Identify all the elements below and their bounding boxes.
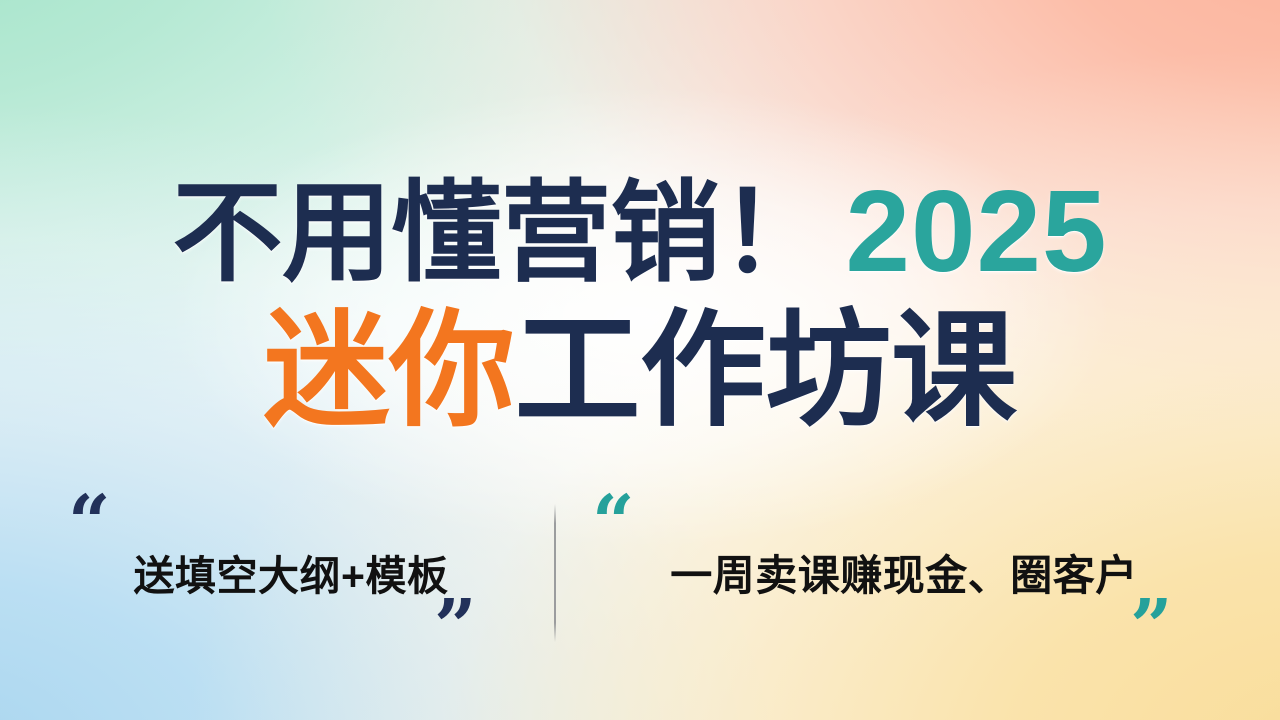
headline-line-1-year: 2025 [829, 166, 1107, 296]
poster-canvas: 不用懂营销！2025 迷你工作坊课 “ 送填空大纲+模板 ” “ 一周卖课赚现金… [0, 0, 1280, 720]
headline-line-2: 迷你工作坊课 [0, 305, 1280, 437]
bullet-item-left: “ 送填空大纲+模板 ” [56, 486, 526, 656]
bullet-row: “ 送填空大纲+模板 ” “ 一周卖课赚现金、圈客户 ” [0, 486, 1280, 676]
headline-line-1-navy-text: 不用懂营销！ [172, 172, 829, 295]
quote-close-icon: ” [434, 590, 477, 664]
headline-line-2-navy-text: 工作坊课 [515, 300, 1017, 441]
headline-line-1: 不用懂营销！2025 [0, 172, 1280, 293]
bullet-item-right: “ 一周卖课赚现金、圈客户 ” [584, 486, 1224, 656]
headline-line-2-orange-text: 迷你 [264, 300, 515, 441]
bullet-right-text: 一周卖课赚现金、圈客户 [584, 542, 1224, 603]
headline-block: 不用懂营销！2025 迷你工作坊课 [0, 172, 1280, 437]
quote-close-icon: ” [1130, 590, 1173, 664]
bullet-divider [554, 504, 556, 642]
